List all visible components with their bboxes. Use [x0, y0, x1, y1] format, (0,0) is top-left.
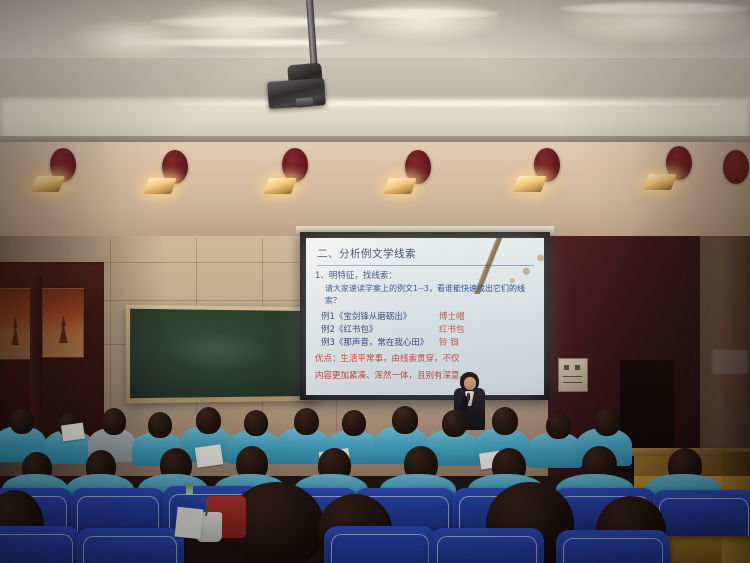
student-head	[546, 412, 571, 439]
handout-paper	[61, 423, 85, 442]
audience	[0, 404, 750, 563]
student-head	[294, 408, 319, 435]
slide-example-right: 红书包	[439, 324, 465, 337]
ceiling-glow	[350, 0, 500, 40]
slide-subtitle: 1、明特征，找线索：	[315, 269, 536, 281]
slide-example-right: 博士帽	[439, 311, 465, 324]
handout-paper	[175, 507, 204, 540]
projection-screen: 二、分析例文学线索 1、明特征，找线索： 请大家速读学案上的例文1--3，看谁能…	[306, 238, 544, 395]
slide-paragraph: 请大家速读学案上的例文1--3，看谁能快速找出它们的线索？	[325, 283, 536, 306]
auditorium-seat[interactable]	[430, 528, 544, 563]
auditorium-seat[interactable]	[556, 530, 670, 563]
teacher-face	[464, 377, 476, 390]
slide-example-right: 铃 铛	[439, 337, 459, 350]
water-bottle[interactable]	[186, 484, 193, 495]
student-head	[392, 406, 418, 434]
slide-title: 二、分析例文学线索	[317, 246, 536, 261]
slide-example-left: 例2《红书包》	[321, 324, 439, 337]
upper-wall-shading	[0, 142, 750, 238]
slide-note-line-2: 内容更加紧凑、浑然一体，且别有深意。	[315, 370, 536, 382]
ceiling-glow	[560, 0, 750, 44]
slide-title-underline	[317, 265, 534, 266]
student-head	[342, 410, 366, 436]
student-head	[492, 407, 518, 435]
student-head	[196, 407, 221, 434]
auditorium-seat[interactable]	[324, 526, 436, 563]
slide-example-row: 例1《宝剑锋从磨砺出》 博士帽	[321, 311, 536, 324]
slide-example-left: 例1《宝剑锋从磨砺出》	[321, 311, 439, 324]
student-head	[442, 410, 467, 437]
auditorium-seat[interactable]	[0, 526, 80, 563]
slide-content: 二、分析例文学线索 1、明特征，找线索： 请大家速读学案上的例文1--3，看谁能…	[306, 238, 544, 395]
slide-example-left: 例3《那声音，常在我心田》	[321, 337, 439, 350]
handout-paper	[195, 444, 224, 467]
student-head	[148, 412, 172, 438]
soffit-light-line	[170, 100, 730, 107]
microphone-icon	[467, 393, 470, 401]
classroom-photo: 二、分析例文学线索 1、明特征，找线索： 请大家速读学案上的例文1--3，看谁能…	[0, 0, 750, 563]
auditorium-seat[interactable]	[76, 528, 184, 563]
auditorium-seat[interactable]	[652, 490, 750, 536]
projector-lens	[296, 97, 314, 107]
slide-example-row: 例2《红书包》 红书包	[321, 324, 536, 337]
slide-note-line-1: 优点：生活平常事，由线索贯穿，不仅	[315, 353, 536, 365]
student-head	[102, 408, 126, 435]
slide-example-row: 例3《那声音，常在我心田》 铃 铛	[321, 337, 536, 350]
student-head	[594, 408, 620, 436]
ceiling-glow	[70, 20, 190, 60]
student-head	[244, 410, 268, 436]
student-head	[10, 408, 34, 434]
